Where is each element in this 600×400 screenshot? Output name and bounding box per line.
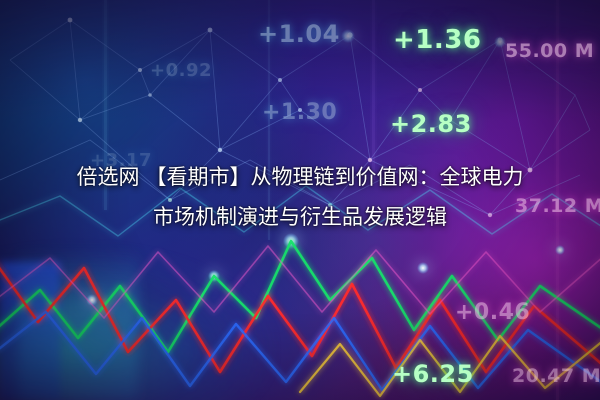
caption-block: 倍选网【看期市】从物理链到价值网：全球电力 市场机制演进与衍生品发展逻辑 <box>0 158 600 238</box>
caption-line-1: 倍选网【看期市】从物理链到价值网：全球电力 <box>10 158 590 198</box>
brand-label: 倍选网 <box>77 166 140 189</box>
caption-text-1: 【看期市】从物理链到价值网：全球电力 <box>146 166 524 189</box>
image-canvas: +1.36+2.83+6.25+0.46+1.04+1.3055.00 M37.… <box>0 0 600 400</box>
caption-line-2: 市场机制演进与衍生品发展逻辑 <box>10 198 590 238</box>
